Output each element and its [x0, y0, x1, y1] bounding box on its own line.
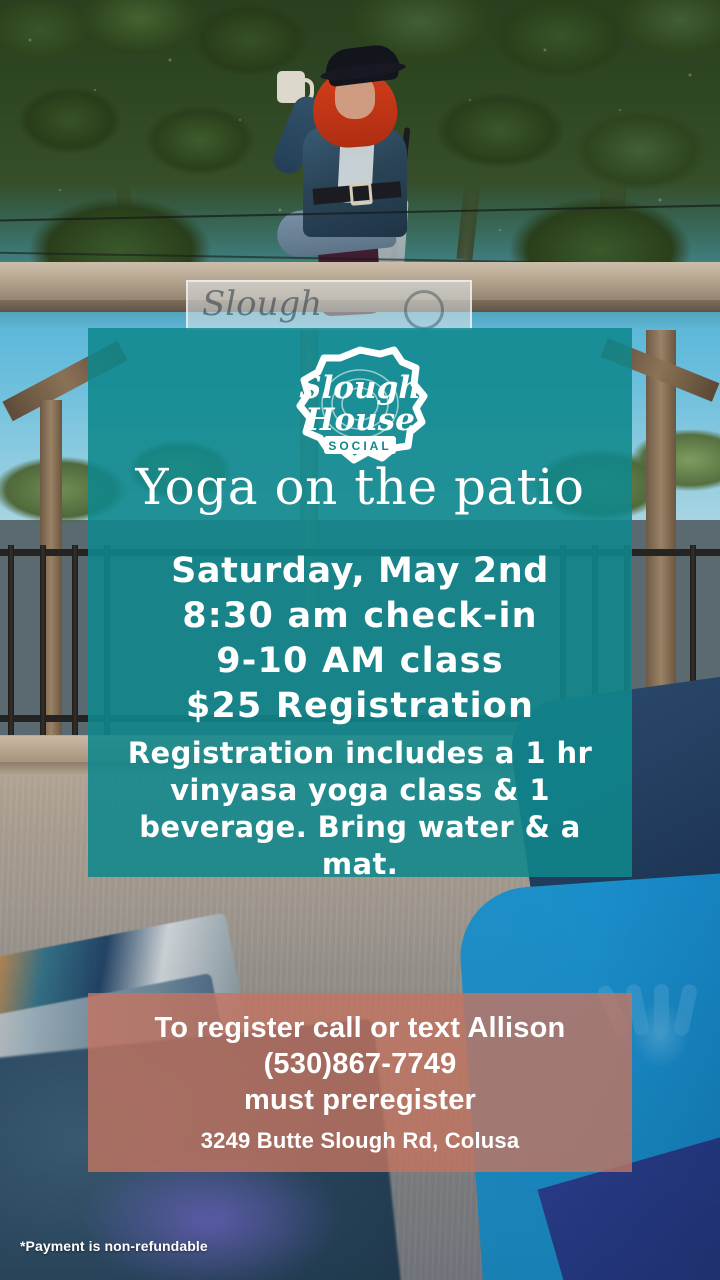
flyer-poster: Slough House SOCIAL Yoga on the patio Sa…: [0, 0, 720, 1280]
event-checkin: 8:30 am check-in: [0, 594, 720, 639]
slough-house-social-logo: Slough House SOCIAL: [290, 344, 430, 468]
page-title: Yoga on the patio: [0, 462, 720, 512]
logo-line-slough: Slough: [299, 370, 421, 406]
event-class-time: 9-10 AM class: [0, 639, 720, 684]
venue-address: 3249 Butte Slough Rd, Colusa: [88, 1128, 632, 1154]
event-price: $25 Registration: [0, 684, 720, 729]
registration-includes-text: Registration includes a 1 hr vinyasa yog…: [112, 735, 608, 883]
logo-line-house: House: [304, 402, 415, 438]
contact-block: To register call or text Allison (530)86…: [88, 1010, 632, 1118]
contact-instruction: To register call or text Allison: [88, 1010, 632, 1046]
payment-footnote: *Payment is non-refundable: [20, 1238, 208, 1254]
event-date: Saturday, May 2nd: [0, 549, 720, 594]
logo-line-social: SOCIAL: [328, 439, 391, 453]
event-details: Saturday, May 2nd 8:30 am check-in 9-10 …: [0, 549, 720, 729]
contact-phone[interactable]: (530)867-7749: [88, 1046, 632, 1082]
contact-note: must preregister: [88, 1082, 632, 1118]
